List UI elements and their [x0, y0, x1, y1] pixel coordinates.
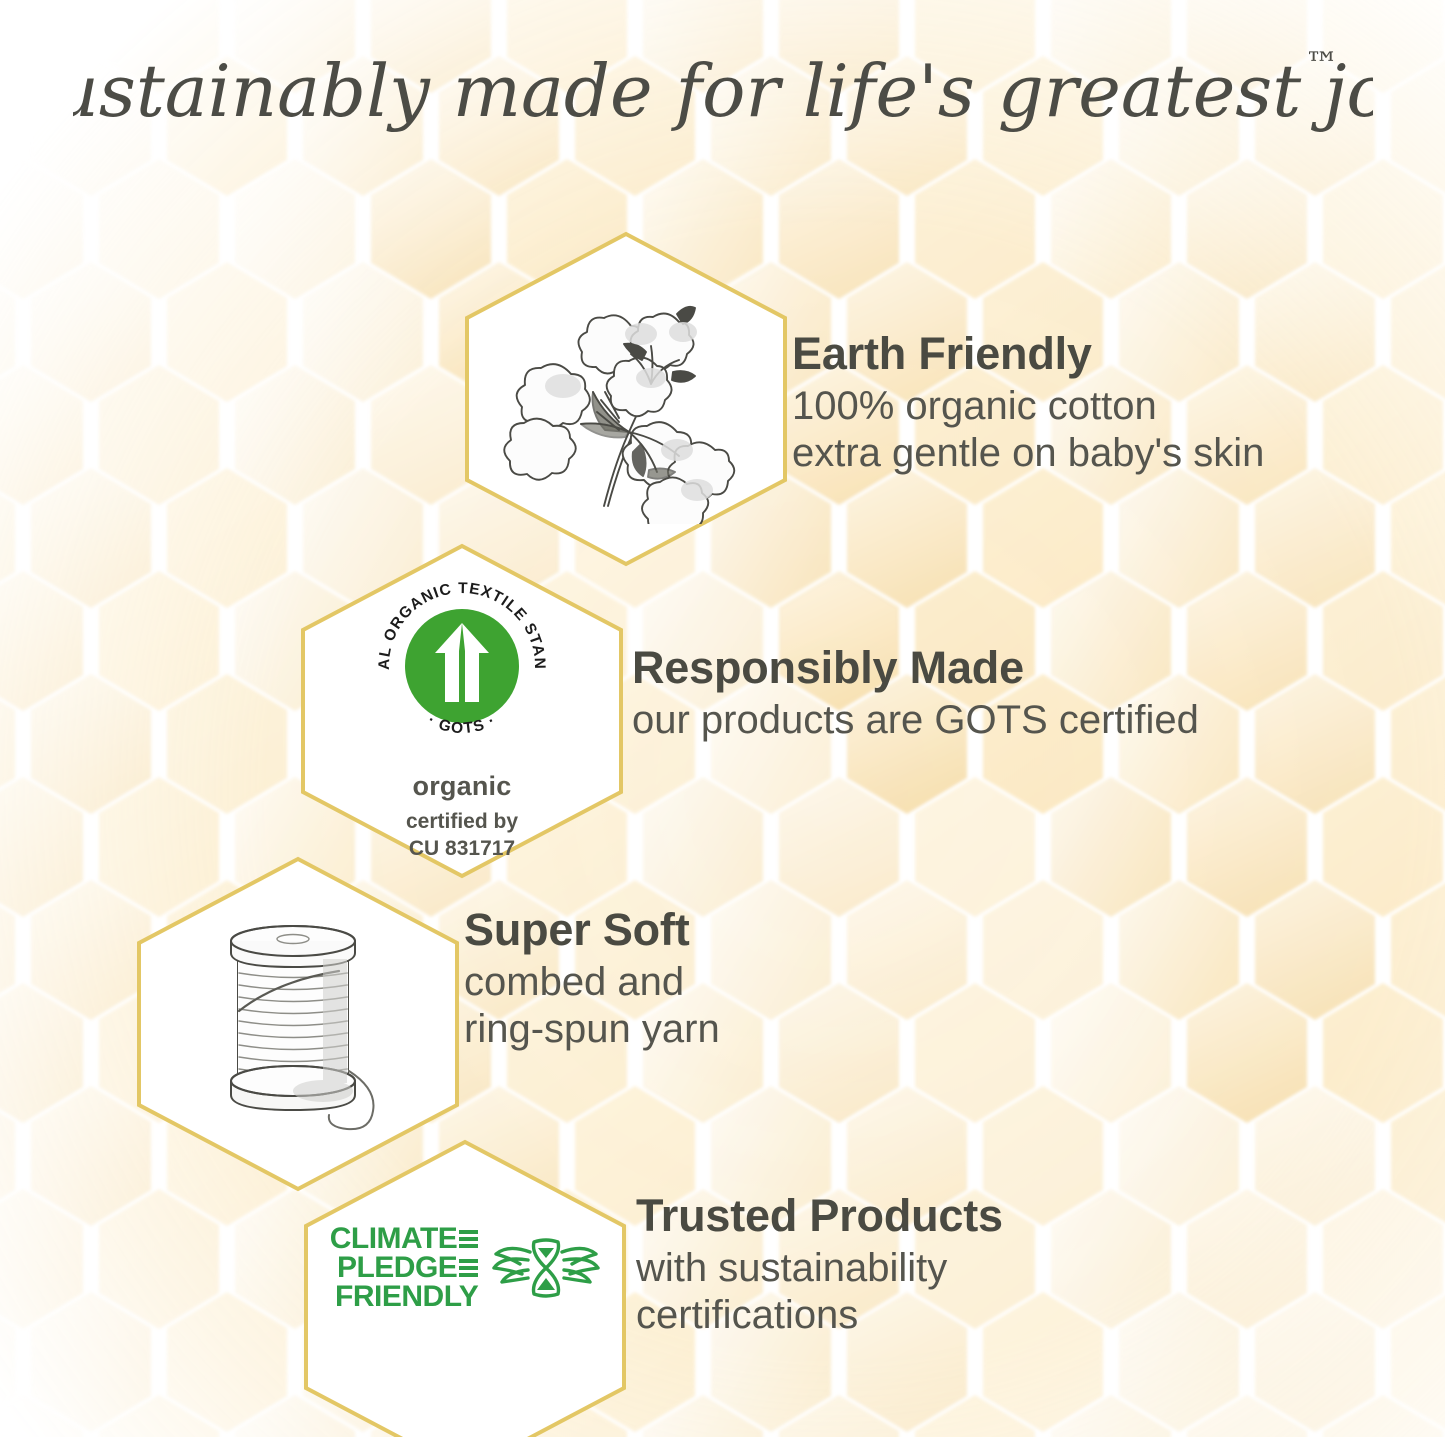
gots-certification-icon: GLOBAL ORGANIC TEXTILE STANDARD · GOTS ·… — [369, 573, 555, 861]
feature-line: 100% organic cotton — [792, 383, 1392, 430]
feature-hex-earth-friendly — [464, 231, 788, 567]
gots-certified-by-label: certified by — [406, 809, 518, 835]
climate-pledge-word-1: CLIMATE — [330, 1225, 458, 1254]
cotton-plant-icon — [501, 274, 751, 524]
thread-spool-icon — [173, 899, 423, 1149]
feature-text-super-soft: Super Soft combed and ring-spun yarn — [464, 906, 984, 1054]
pledge-bars-icon — [459, 1259, 478, 1277]
winged-hourglass-icon — [492, 1228, 600, 1308]
infographic-canvas: sustainably made for life's greatest joy… — [0, 0, 1445, 1437]
feature-title: Super Soft — [464, 906, 984, 953]
feature-line: with sustainability — [636, 1245, 1196, 1292]
feature-title: Trusted Products — [636, 1192, 1196, 1239]
feature-line: ring-spun yarn — [464, 1006, 984, 1053]
feature-line: our products are GOTS certified — [632, 697, 1332, 744]
climate-pledge-word-2: PLEDGE — [337, 1254, 457, 1283]
climate-pledge-word-3: FRIENDLY — [335, 1283, 478, 1312]
feature-text-earth-friendly: Earth Friendly 100% organic cotton extra… — [792, 330, 1392, 478]
feature-text-trusted-products: Trusted Products with sustainability cer… — [636, 1192, 1196, 1340]
feature-title: Responsibly Made — [632, 644, 1332, 691]
feature-hex-trusted-products: CLIMATE PLEDGE FRIENDLY — [303, 1139, 627, 1437]
feature-text-responsibly-made: Responsibly Made our products are GOTS c… — [632, 644, 1332, 744]
feature-line: certifications — [636, 1292, 1196, 1339]
climate-bars-icon — [459, 1230, 478, 1248]
feature-line: combed and — [464, 959, 984, 1006]
climate-pledge-friendly-icon: CLIMATE PLEDGE FRIENDLY — [330, 1225, 601, 1311]
feature-hex-responsibly-made: GLOBAL ORGANIC TEXTILE STANDARD · GOTS ·… — [300, 543, 624, 879]
gots-organic-label: organic — [413, 771, 512, 802]
feature-line: extra gentle on baby's skin — [792, 430, 1392, 477]
feature-title: Earth Friendly — [792, 330, 1392, 377]
